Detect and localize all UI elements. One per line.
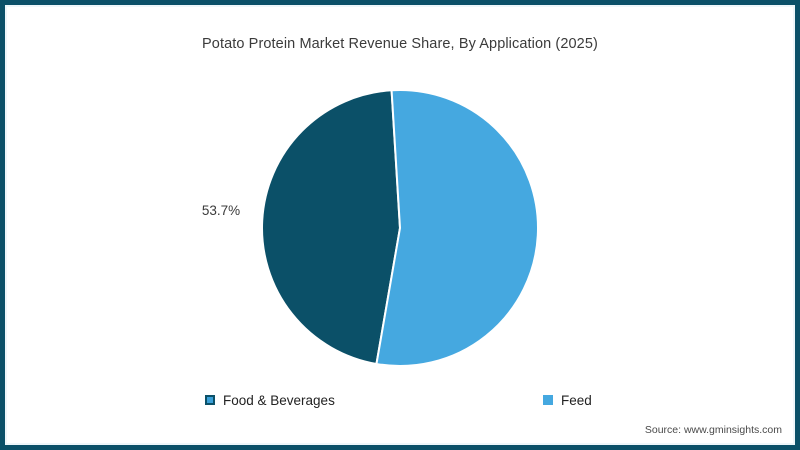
chart-title: Potato Protein Market Revenue Share, By … xyxy=(0,36,800,52)
chart-figure: Potato Protein Market Revenue Share, By … xyxy=(0,0,800,450)
legend-label-feed: Feed xyxy=(561,393,592,408)
legend-item-food-beverages[interactable]: Food & Beverages xyxy=(205,390,335,410)
legend-item-feed[interactable]: Feed xyxy=(543,390,592,410)
chart-legend: Food & Beverages Feed xyxy=(0,390,800,410)
legend-swatch-icon-feed xyxy=(543,395,553,405)
pie-slice-feed[interactable] xyxy=(376,90,538,366)
pie-slice-percentage-label: 53.7% xyxy=(186,203,256,218)
pie-slice-food-beverages[interactable] xyxy=(262,90,400,364)
pie-chart xyxy=(262,90,538,366)
source-attribution: Source: www.gminsights.com xyxy=(645,424,782,436)
pie-svg xyxy=(262,90,538,366)
pie-slices xyxy=(262,90,538,366)
legend-swatch-icon-food-beverages xyxy=(205,395,215,405)
legend-label-food-beverages: Food & Beverages xyxy=(223,393,335,408)
